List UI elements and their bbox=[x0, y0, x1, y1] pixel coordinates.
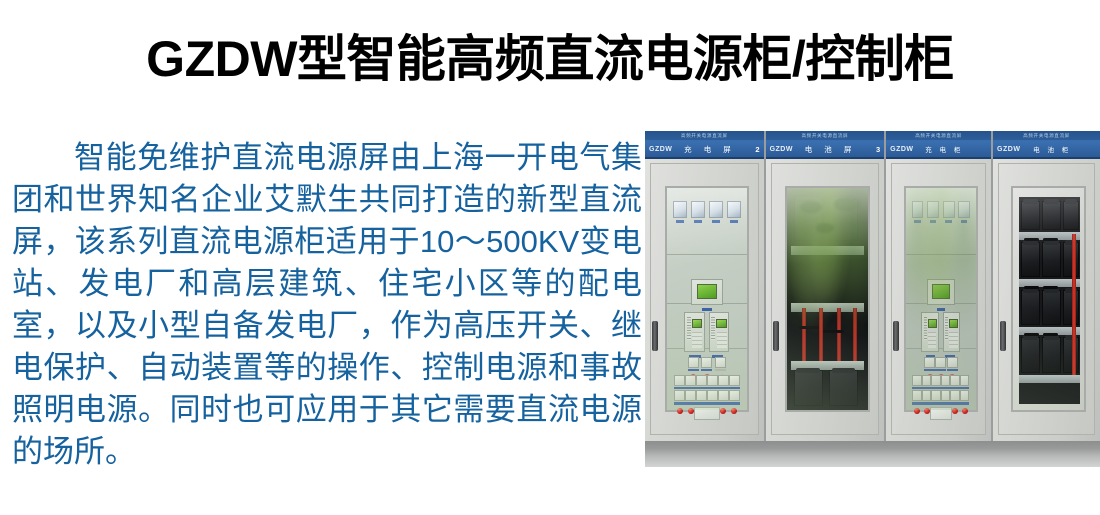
meter-1 bbox=[673, 201, 686, 231]
cabinet-4-brand: GZDW bbox=[997, 146, 1020, 153]
cabinet-3-banner: 高频开关电源直流屏 GZDW 充 电 柜 bbox=[886, 131, 991, 159]
rectifier-module-1 bbox=[684, 312, 704, 352]
cabinet-4-battery-window bbox=[1011, 186, 1086, 413]
photo-floor bbox=[645, 441, 1100, 467]
product-photo: 高频开关电源直流屏 GZDW 充 电 屏 2 bbox=[645, 131, 1100, 467]
slide-root: GZDW型智能高频直流电源柜/控制柜 智能免维护直流电源屏由上海一开电气集团和世… bbox=[0, 0, 1100, 515]
cabinet-3-panel-window bbox=[904, 186, 977, 413]
cabinet-3-label: 充 电 柜 bbox=[914, 144, 976, 154]
cabinet-lineup: 高频开关电源直流屏 GZDW 充 电 屏 2 bbox=[645, 131, 1100, 441]
cabinet-3-door bbox=[891, 163, 986, 435]
cabinet-4-door bbox=[998, 163, 1095, 435]
cabinet-1-number: 2 bbox=[748, 145, 760, 154]
cabinet-1-brand: GZDW bbox=[649, 146, 672, 153]
cabinet-2-number: 3 bbox=[868, 145, 880, 154]
description-paragraph: 智能免维护直流电源屏由上海一开电气集团和世界知名企业艾默生共同打造的新型直流屏，… bbox=[12, 137, 642, 473]
cabinet-1-panel-window bbox=[665, 186, 749, 413]
page-title: GZDW型智能高频直流电源柜/控制柜 bbox=[0, 28, 1100, 90]
meter-4 bbox=[727, 201, 740, 231]
cabinet-2-door bbox=[771, 163, 880, 435]
cabinet-1-door bbox=[650, 163, 759, 435]
cabinet-1-monitor-unit bbox=[691, 279, 723, 305]
cabinet-1-tiny-header: 高频开关电源直流屏 bbox=[645, 131, 764, 140]
cabinet-1-banner: 高频开关电源直流屏 GZDW 充 电 屏 2 bbox=[645, 131, 764, 159]
cabinet-1-handle bbox=[652, 321, 658, 351]
cabinet-1-label: 充 电 屏 bbox=[672, 144, 747, 155]
cabinet-2: 高频开关电源直流屏 GZDW 电 池 屏 3 bbox=[766, 131, 887, 441]
cabinet-4-label: 电 池 柜 bbox=[1020, 144, 1084, 154]
meter-2 bbox=[691, 201, 704, 231]
cabinet-1-nameplate bbox=[694, 407, 720, 420]
cabinet-2-banner: 高频开关电源直流屏 GZDW 电 池 屏 3 bbox=[766, 131, 885, 159]
cabinet-3-tiny-header: 高频开关电源直流屏 bbox=[886, 131, 991, 140]
cabinet-4: 高频开关电源直流屏 GZDW 电 池 柜 bbox=[993, 131, 1100, 441]
cabinet-2-tiny-header: 高频开关电源直流屏 bbox=[766, 131, 885, 140]
cabinet-1-rectifier-modules bbox=[684, 312, 729, 352]
cabinet-2-label: 电 池 屏 bbox=[793, 144, 868, 155]
cabinet-2-brand: GZDW bbox=[770, 146, 793, 153]
cabinet-1-meter-row bbox=[673, 201, 740, 231]
cabinet-3: 高频开关电源直流屏 GZDW 充 电 柜 bbox=[886, 131, 993, 441]
cabinet-4-banner: 高频开关电源直流屏 GZDW 电 池 柜 bbox=[993, 131, 1100, 159]
cabinet-3-handle bbox=[893, 321, 899, 351]
cabinet-1: 高频开关电源直流屏 GZDW 充 电 屏 2 bbox=[645, 131, 766, 441]
cabinet-2-glass-window bbox=[785, 186, 869, 413]
meter-3 bbox=[709, 201, 722, 231]
battery-rack bbox=[1019, 197, 1080, 404]
cabinet-2-handle bbox=[773, 321, 779, 351]
cabinet-4-handle bbox=[1000, 321, 1006, 351]
cabinet-3-brand: GZDW bbox=[890, 146, 913, 153]
rectifier-module-2 bbox=[709, 312, 729, 352]
cabinet-4-tiny-header: 高频开关电源直流屏 bbox=[993, 131, 1100, 140]
